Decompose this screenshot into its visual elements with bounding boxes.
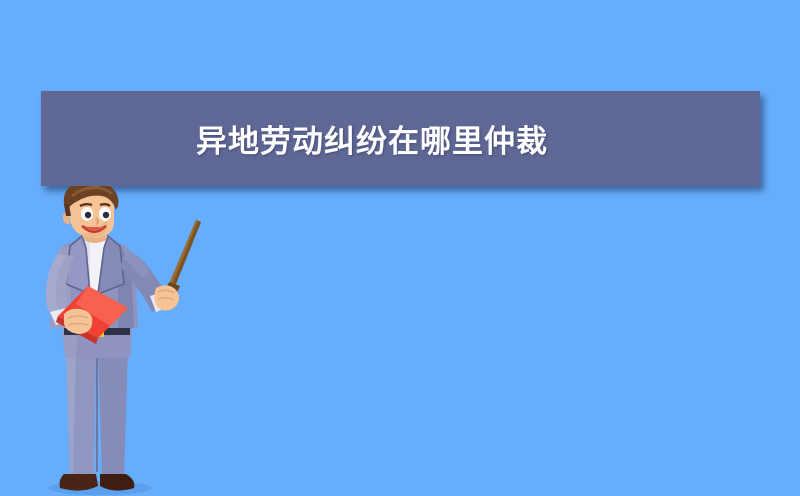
page-title: 异地劳动纠纷在哪里仲裁 xyxy=(196,91,548,186)
trousers xyxy=(62,326,132,476)
head xyxy=(63,186,118,238)
left-hand xyxy=(64,309,92,334)
slide-canvas: 异地劳动纠纷在哪里仲裁 xyxy=(0,0,800,496)
title-banner: 异地劳动纠纷在哪里仲裁 xyxy=(41,91,760,186)
cartoon-businessman-illustration xyxy=(20,186,250,496)
